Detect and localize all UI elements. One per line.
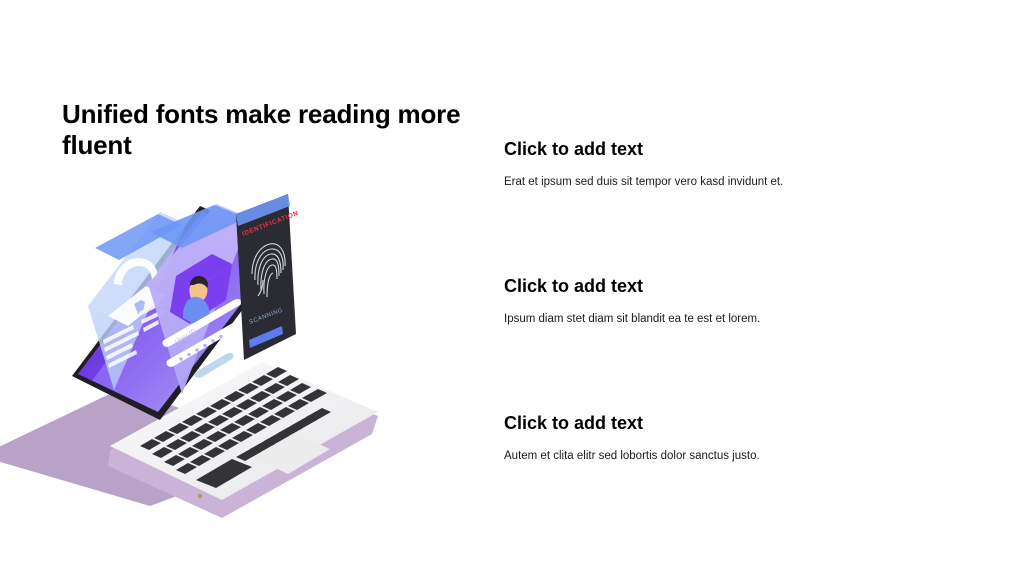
block-heading[interactable]: Click to add text — [504, 139, 964, 161]
block-heading[interactable]: Click to add text — [504, 276, 964, 298]
block-body[interactable]: Ipsum diam stet diam sit blandit ea te e… — [504, 312, 964, 328]
text-block: Click to add text Erat et ipsum sed duis… — [504, 139, 964, 190]
page-title: Unified fonts make reading more fluent — [62, 99, 462, 160]
block-body[interactable]: Autem et clita elitr sed lobortis dolor … — [504, 449, 964, 465]
presentation-slide: Unified fonts make reading more fluent — [0, 0, 1024, 576]
block-heading[interactable]: Click to add text — [504, 413, 964, 435]
text-block: Click to add text Autem et clita elitr s… — [504, 413, 964, 464]
fingerprint-panel: IDENTIFICATION SCANNING — [236, 194, 300, 360]
text-block: Click to add text Ipsum diam stet diam s… — [504, 276, 964, 327]
illustration-container: User ID — [0, 188, 400, 528]
latch-dot — [198, 494, 202, 498]
text-column: Click to add text Erat et ipsum sed duis… — [504, 139, 964, 464]
block-body[interactable]: Erat et ipsum sed duis sit tempor vero k… — [504, 175, 964, 191]
